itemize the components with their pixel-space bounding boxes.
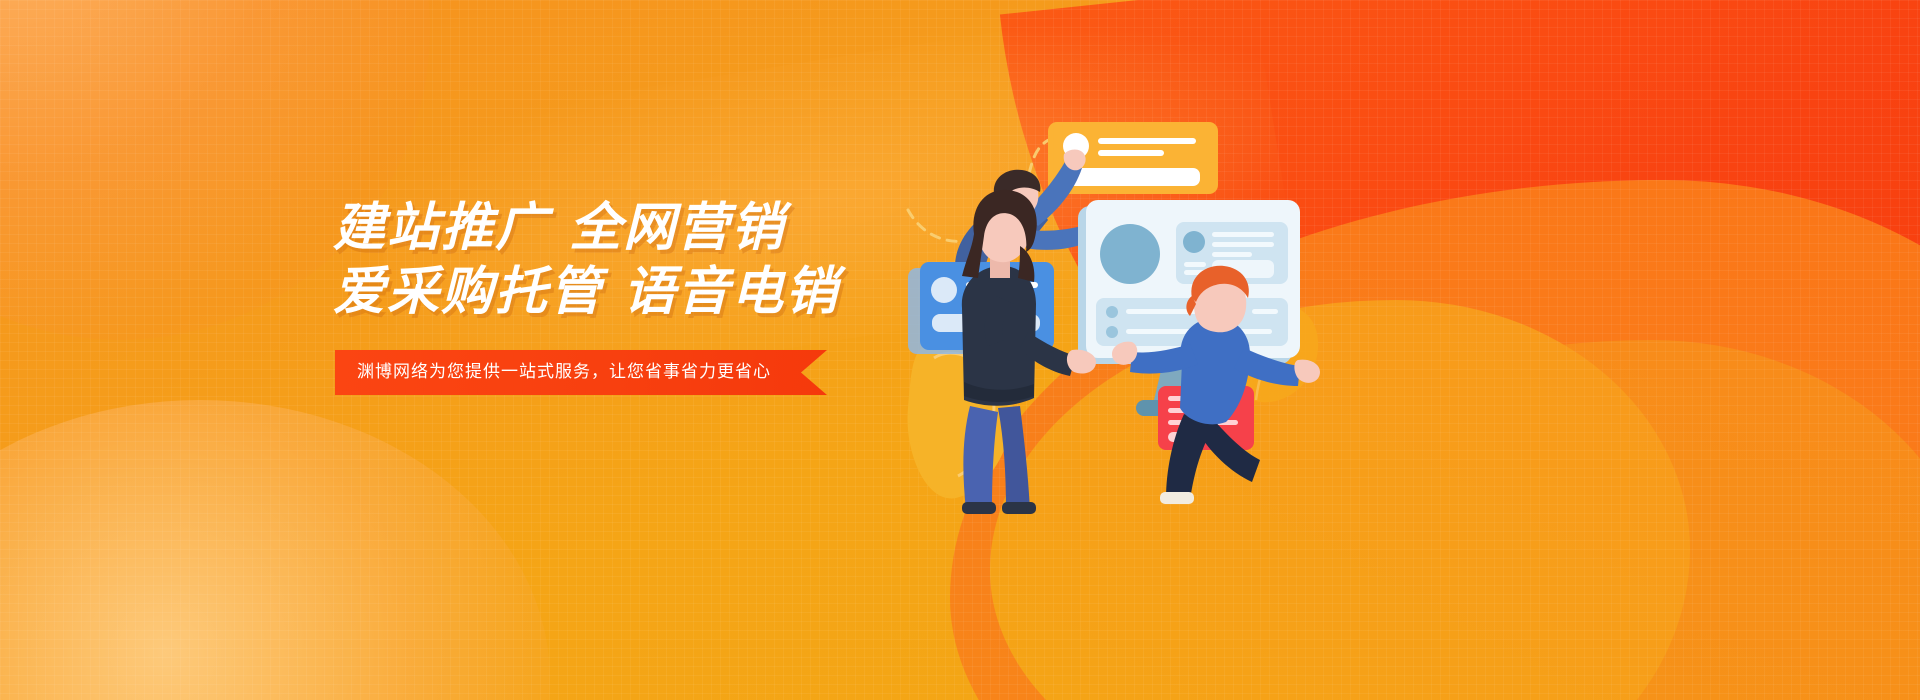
headline-block: 建站推广 全网营销 爱采购托管 语音电销 渊博网络为您提供一站式服务，让您省事省… (333, 196, 973, 395)
headline-line-2: 爱采购托管 语音电销 (333, 260, 973, 324)
headline-line-1: 建站推广 全网营销 (333, 196, 973, 260)
background-blob-bottom-left (0, 400, 550, 700)
blue-card-avatar-icon (931, 277, 957, 303)
subtitle-ribbon: 渊博网络为您提供一站式服务，让您省事省力更省心 (335, 350, 827, 395)
hero-illustration (900, 100, 1320, 520)
screen-avatar-icon (1100, 224, 1160, 284)
promo-banner: 建站推广 全网营销 爱采购托管 语音电销 渊博网络为您提供一站式服务，让您省事省… (0, 0, 1920, 700)
